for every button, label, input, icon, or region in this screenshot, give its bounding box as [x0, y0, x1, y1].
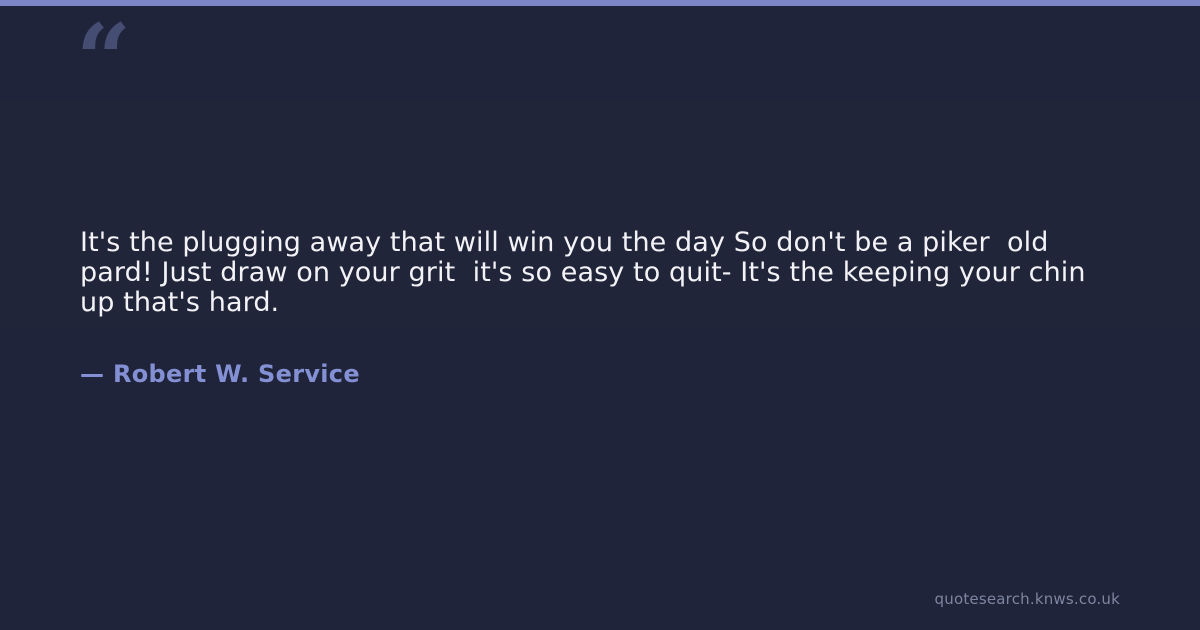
- quote-content: It's the plugging away that will win you…: [80, 228, 1120, 388]
- quote-text: It's the plugging away that will win you…: [80, 228, 1120, 318]
- quote-card: “ It's the plugging away that will win y…: [0, 0, 1200, 630]
- quote-attribution: — Robert W. Service: [80, 318, 1120, 388]
- left-double-quotation-mark-icon: “: [76, 12, 129, 108]
- top-accent-bar: [0, 0, 1200, 6]
- site-url-footer: quotesearch.knws.co.uk: [935, 590, 1120, 608]
